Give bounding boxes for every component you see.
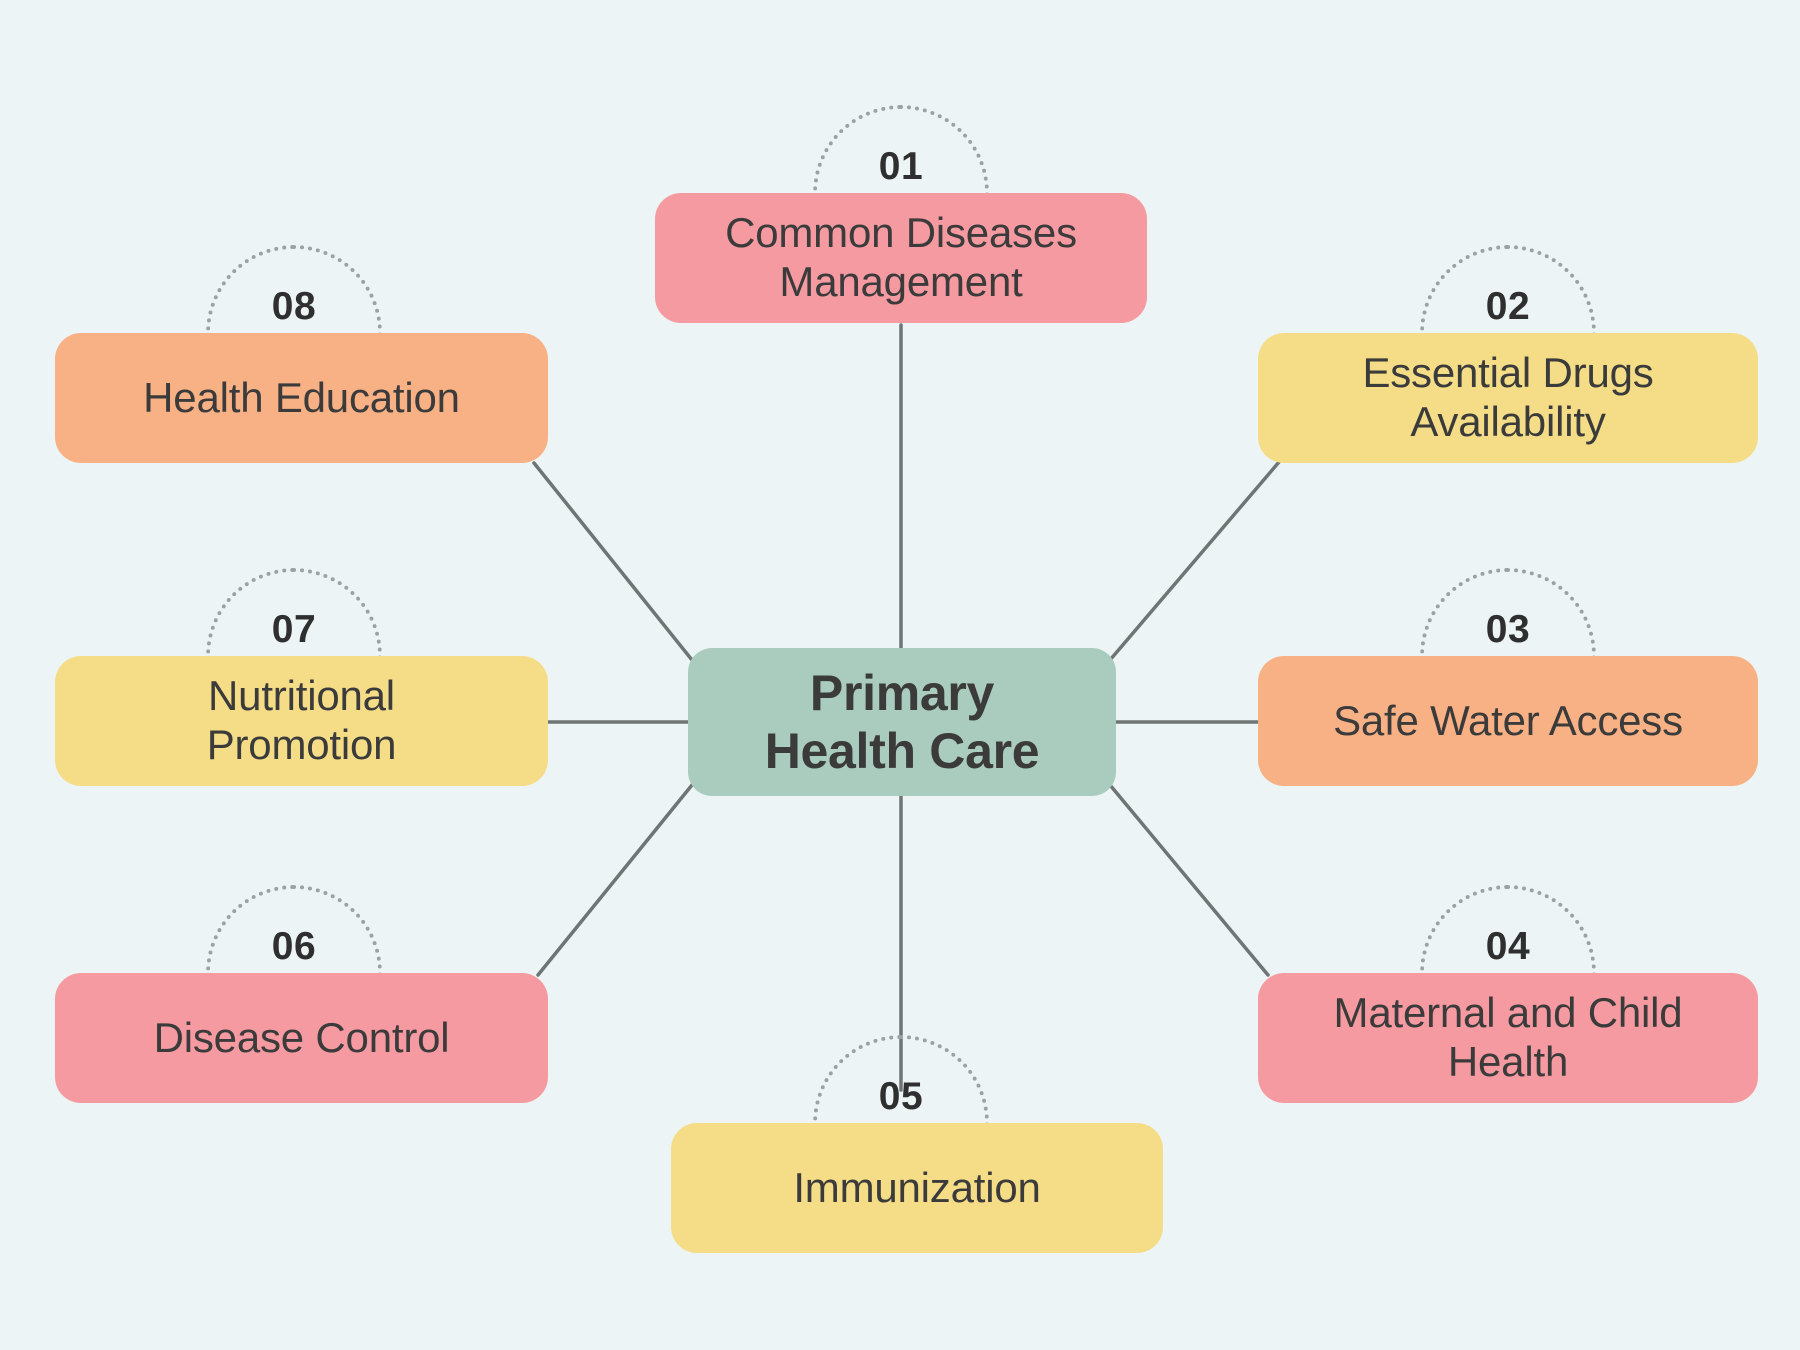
badge-02: 02 <box>1420 245 1596 333</box>
node-03-safe-water-access[interactable]: Safe Water Access <box>1258 656 1758 786</box>
badge-08: 08 <box>206 245 382 333</box>
badge-number-01: 01 <box>813 145 989 189</box>
node-06-label: Disease Control <box>73 1014 530 1063</box>
node-07-nutritional-promotion[interactable]: Nutritional Promotion <box>55 656 548 786</box>
node-05-immunization[interactable]: Immunization <box>671 1123 1163 1253</box>
badge-06: 06 <box>206 885 382 973</box>
node-01-common-diseases-management[interactable]: Common Diseases Management <box>655 193 1147 323</box>
node-04-label: Maternal and Child Health <box>1276 989 1740 1086</box>
badge-number-05: 05 <box>813 1075 989 1119</box>
badge-number-02: 02 <box>1420 285 1596 329</box>
center-node-label: Primary Health Care <box>706 664 1098 780</box>
badge-03: 03 <box>1420 568 1596 656</box>
badge-07: 07 <box>206 568 382 656</box>
center-node-primary-health-care[interactable]: Primary Health Care <box>688 648 1116 796</box>
node-01-label: Common Diseases Management <box>673 209 1129 306</box>
node-02-essential-drugs-availability[interactable]: Essential Drugs Availability <box>1258 333 1758 463</box>
node-07-label: Nutritional Promotion <box>73 672 530 769</box>
node-03-label: Safe Water Access <box>1276 697 1740 746</box>
node-06-disease-control[interactable]: Disease Control <box>55 973 548 1103</box>
edge-center-to-04 <box>1110 785 1268 975</box>
badge-number-06: 06 <box>206 925 382 969</box>
edge-center-to-02 <box>1110 455 1285 660</box>
badge-number-08: 08 <box>206 285 382 329</box>
node-08-health-education[interactable]: Health Education <box>55 333 548 463</box>
edge-center-to-06 <box>538 785 692 975</box>
badge-number-04: 04 <box>1420 925 1596 969</box>
diagram-canvas: Primary Health Care 01 Common Diseases M… <box>0 0 1800 1350</box>
badge-number-03: 03 <box>1420 608 1596 652</box>
node-04-maternal-and-child-health[interactable]: Maternal and Child Health <box>1258 973 1758 1103</box>
badge-number-07: 07 <box>206 608 382 652</box>
edge-center-to-08 <box>534 463 692 660</box>
badge-01: 01 <box>813 105 989 193</box>
node-02-label: Essential Drugs Availability <box>1276 349 1740 446</box>
node-08-label: Health Education <box>73 374 530 423</box>
badge-05: 05 <box>813 1035 989 1123</box>
node-05-label: Immunization <box>689 1164 1145 1213</box>
badge-04: 04 <box>1420 885 1596 973</box>
